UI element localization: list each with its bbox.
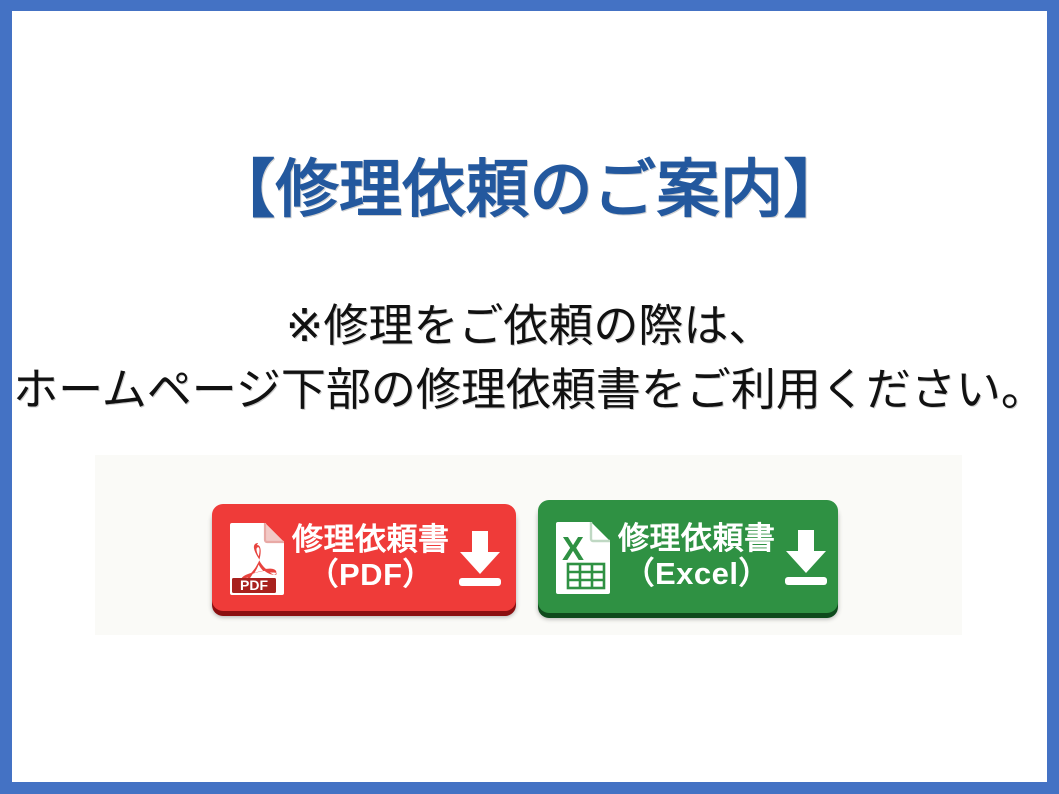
frame-border-left: [0, 0, 12, 794]
pdf-button-label-line1: 修理依頼書: [292, 523, 450, 558]
frame-border-bottom: [0, 782, 1059, 794]
frame-border-top: [0, 0, 1059, 11]
pdf-button-label-line2: （PDF）: [292, 558, 450, 593]
excel-button-label-line2: （Excel）: [618, 557, 776, 592]
excel-button-label: 修理依頼書 （Excel）: [614, 522, 780, 591]
pdf-file-icon: PDF: [228, 521, 288, 595]
svg-text:X: X: [562, 530, 584, 567]
instruction-line-1: ※修理をご依頼の際は、: [12, 294, 1047, 358]
instruction-line-2: ホームページ下部の修理依頼書をご利用ください。: [12, 358, 1047, 422]
instruction-text: ※修理をご依頼の際は、 ホームページ下部の修理依頼書をご利用ください。: [12, 294, 1047, 422]
download-icon: [454, 527, 506, 589]
svg-text:PDF: PDF: [240, 577, 268, 593]
download-button-row: PDF 修理依頼書 （PDF）: [212, 492, 852, 622]
slide-canvas: 【修理依頼のご案内】 ※修理をご依頼の際は、 ホームページ下部の修理依頼書をご利…: [0, 0, 1059, 794]
download-excel-button[interactable]: X 修理依頼書 （Excel）: [538, 500, 838, 613]
excel-file-icon: X: [554, 520, 614, 594]
download-icon: [780, 526, 832, 588]
frame-border-right: [1047, 0, 1059, 794]
pdf-button-label: 修理依頼書 （PDF）: [288, 523, 454, 592]
slide-content-area: 【修理依頼のご案内】 ※修理をご依頼の際は、 ホームページ下部の修理依頼書をご利…: [12, 11, 1047, 782]
download-pdf-button[interactable]: PDF 修理依頼書 （PDF）: [212, 504, 516, 611]
excel-button-label-line1: 修理依頼書: [618, 522, 776, 557]
page-title: 【修理依頼のご案内】: [12, 156, 1047, 224]
